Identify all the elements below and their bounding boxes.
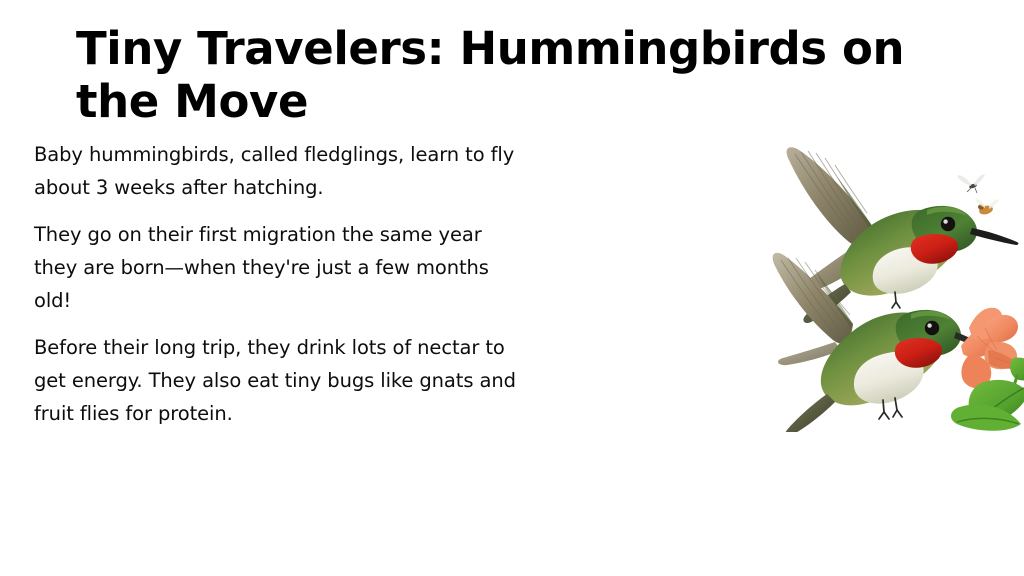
lower-bird-eye bbox=[925, 321, 939, 335]
upper-bird-wing bbox=[787, 147, 873, 245]
upper-bird-eye bbox=[941, 217, 955, 231]
hummingbird-scene-svg bbox=[745, 132, 1024, 432]
page-title: Tiny Travelers: Hummingbirds on the Move bbox=[76, 22, 936, 128]
body-paragraph-3: Before their long trip, they drink lots … bbox=[34, 331, 522, 430]
slide-canvas: Tiny Travelers: Hummingbirds on the Move… bbox=[0, 0, 1024, 576]
upper-bird-feet bbox=[892, 292, 900, 308]
upper-bird-throat bbox=[911, 234, 958, 264]
body-paragraph-2: They go on their first migration the sam… bbox=[34, 218, 522, 317]
gnat-icon bbox=[957, 174, 985, 193]
upper-bird-bill bbox=[970, 228, 1018, 245]
body-text-block: Baby hummingbirds, called fledglings, le… bbox=[34, 138, 522, 430]
hummingbird-illustration bbox=[745, 132, 1024, 432]
body-paragraph-1: Baby hummingbirds, called fledglings, le… bbox=[34, 138, 522, 204]
lower-bird-throat bbox=[895, 338, 942, 368]
fruit-fly-icon bbox=[975, 198, 999, 215]
lower-bird-tail bbox=[786, 394, 835, 432]
